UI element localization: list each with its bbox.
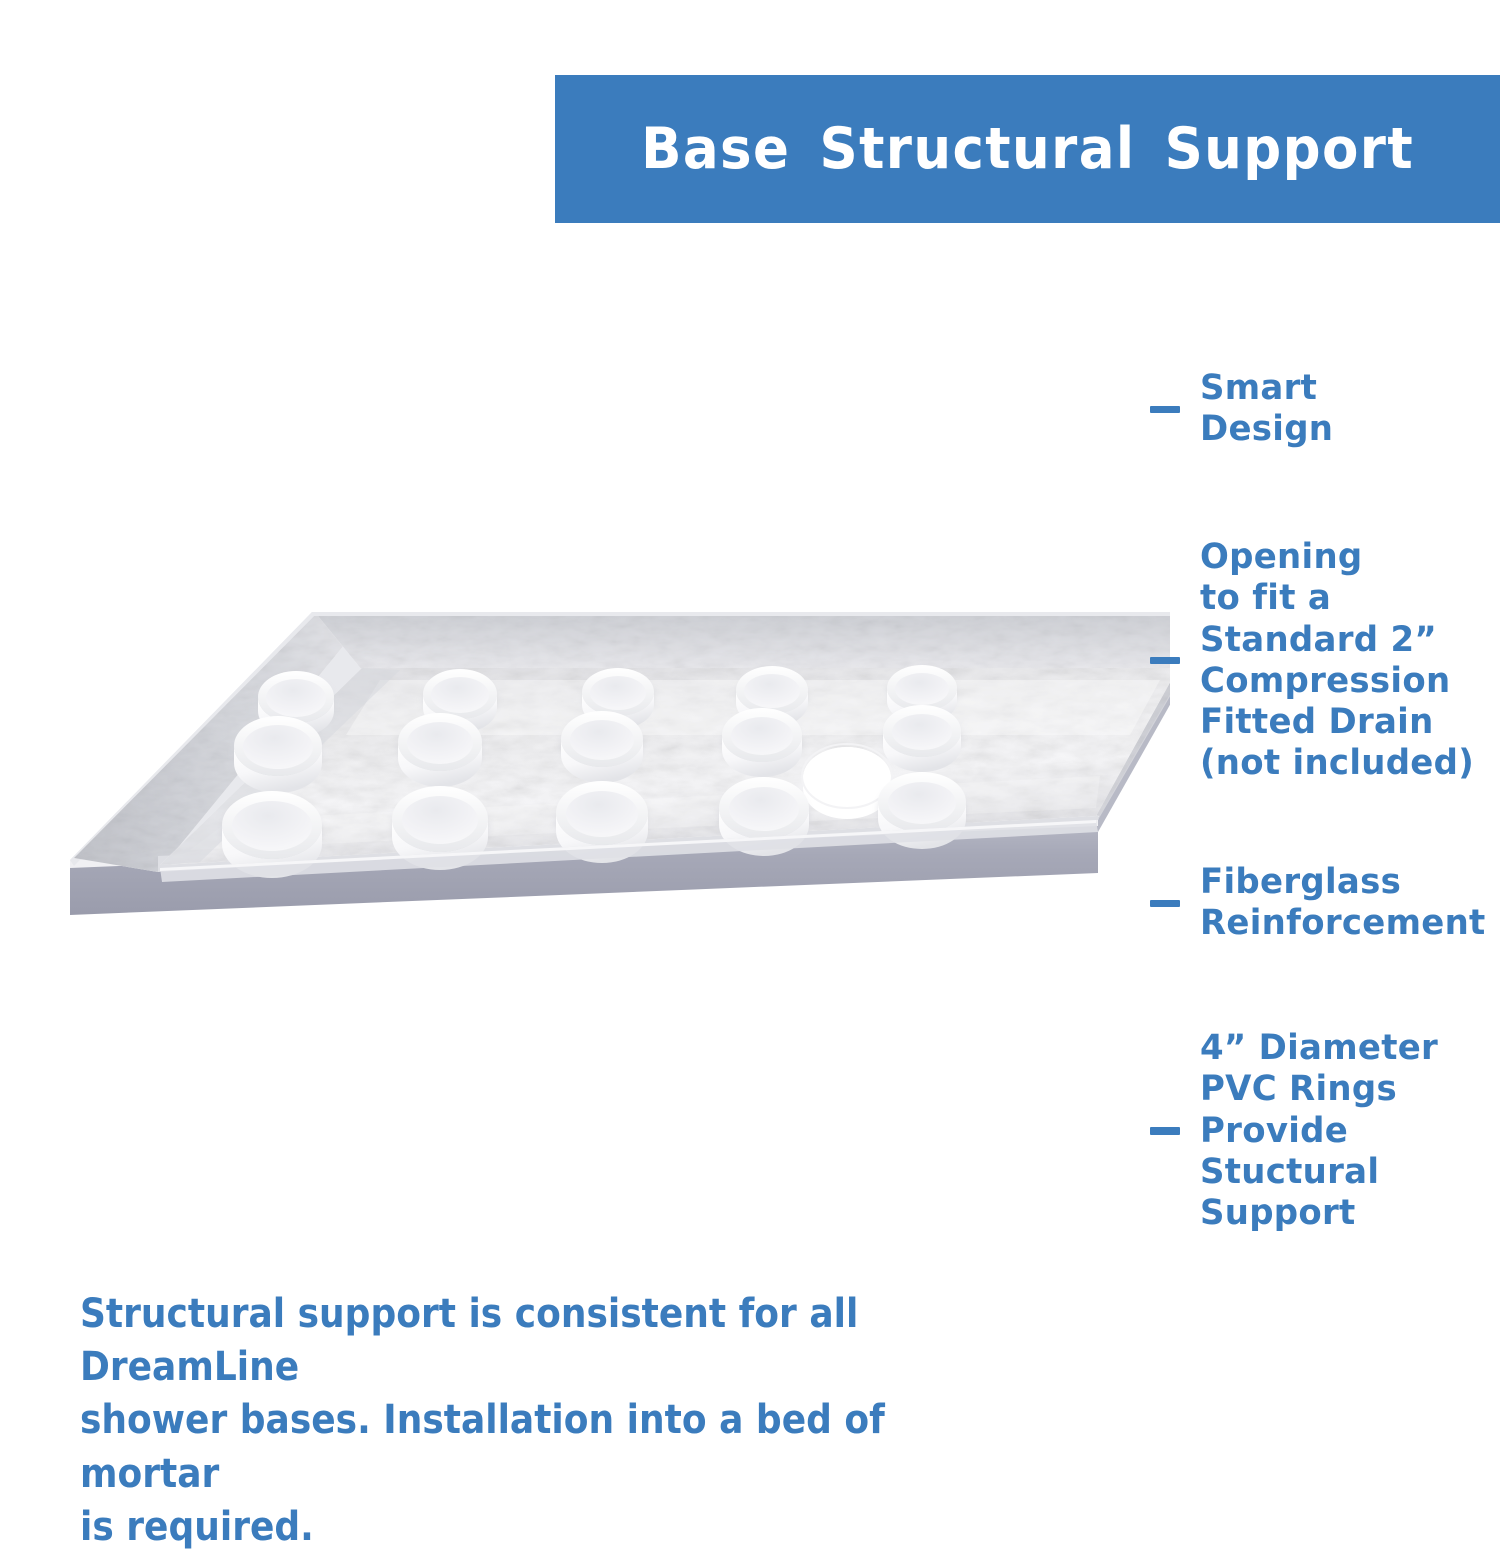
dash-marker-icon <box>1150 900 1180 907</box>
pvc-ring <box>561 711 643 783</box>
dash-marker-icon <box>1150 406 1180 413</box>
shower-base-body <box>70 612 1170 915</box>
base-wall-far <box>318 616 1170 670</box>
footer-caption: Structural support is consistent for all… <box>80 1288 890 1554</box>
callout-label: 4” Diameter PVC Rings Provide Stuctural … <box>1200 1028 1438 1234</box>
pvc-ring <box>883 705 961 772</box>
page-title: Base Structural Support <box>641 116 1414 182</box>
dash-marker-icon <box>1150 1127 1180 1135</box>
pvc-ring <box>234 716 322 793</box>
callout-fiberglass-reinforcement: Fiberglass Reinforcement <box>1150 862 1494 945</box>
header-banner: Base Structural Support <box>555 75 1500 223</box>
pvc-ring <box>398 713 482 787</box>
callout-label: Smart Design <box>1200 368 1333 451</box>
callout-drain-opening: Opening to fit a Standard 2” Compression… <box>1150 537 1483 785</box>
pvc-ring <box>722 708 802 777</box>
callout-smart-design: Smart Design <box>1150 368 1337 451</box>
dash-marker-icon <box>1150 657 1180 664</box>
product-illustration <box>50 520 1170 1000</box>
callout-label: Fiberglass Reinforcement <box>1200 862 1486 945</box>
callout-label: Opening to fit a Standard 2” Compression… <box>1200 537 1474 785</box>
callout-pvc-rings: 4” Diameter PVC Rings Provide Stuctural … <box>1150 1028 1445 1234</box>
